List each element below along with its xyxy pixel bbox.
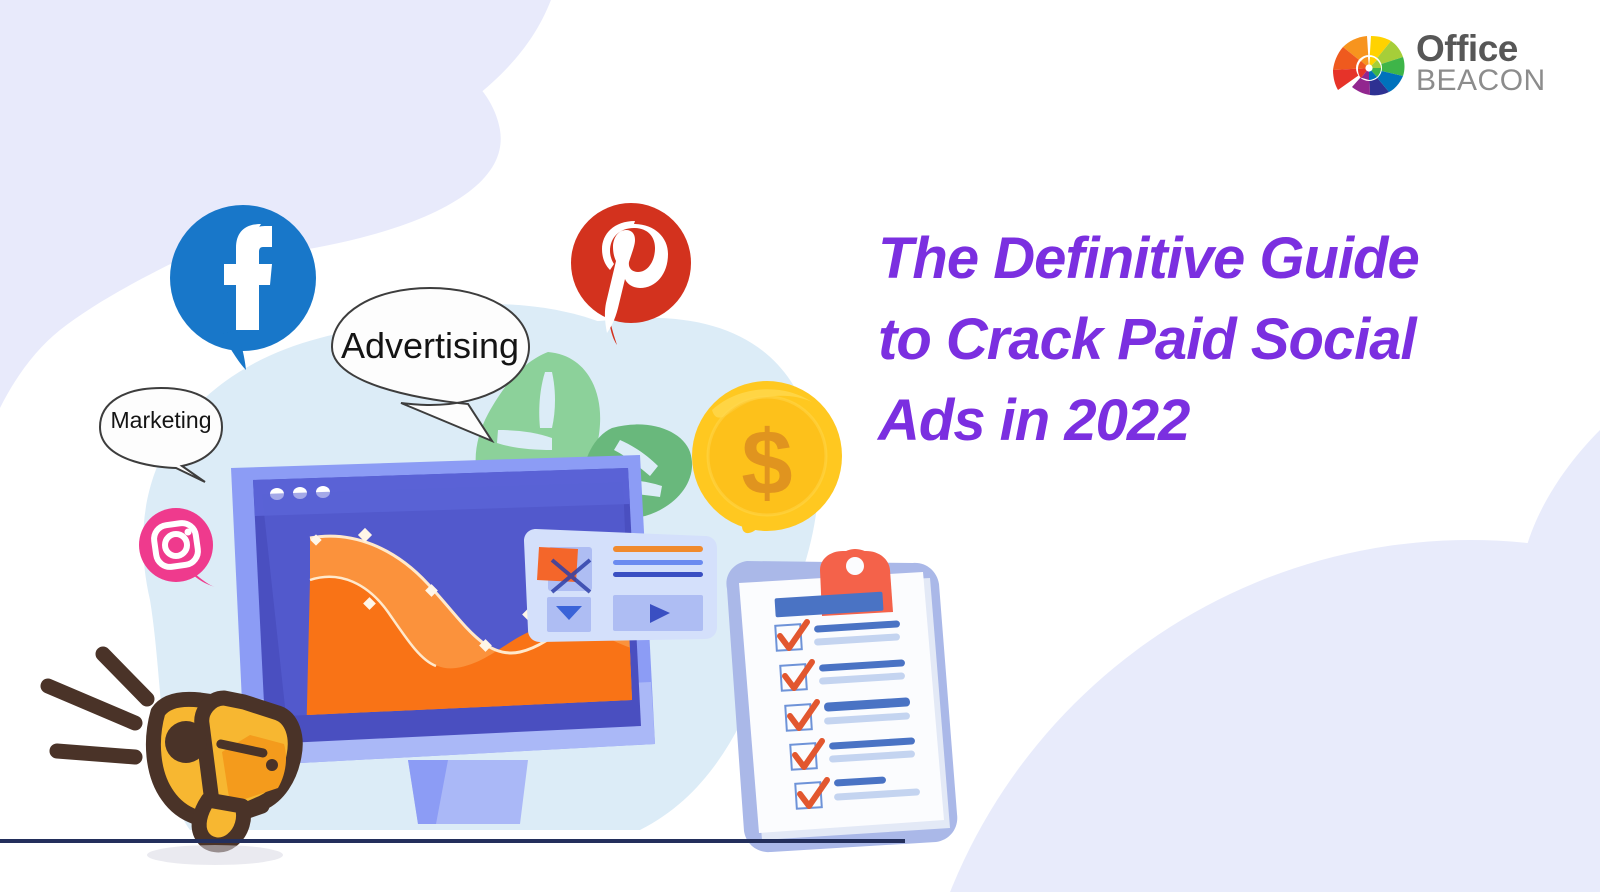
title-line-3: Ads in 2022 bbox=[878, 380, 1518, 461]
ad-card-line-3 bbox=[613, 572, 703, 577]
brand-wordmark: Office BEACON bbox=[1416, 27, 1546, 97]
ad-card-line-1 bbox=[613, 546, 703, 552]
dollar-coin-icon[interactable]: $ bbox=[692, 381, 842, 533]
facebook-icon[interactable] bbox=[170, 205, 316, 370]
megaphone-sound-waves bbox=[48, 654, 147, 757]
checklist-clipboard bbox=[726, 549, 957, 852]
megaphone-knob bbox=[165, 721, 207, 763]
brand-name-beacon: BEACON bbox=[1416, 66, 1546, 97]
ad-preview-card bbox=[524, 529, 717, 642]
title-line-1: The Definitive Guide bbox=[878, 218, 1518, 299]
instagram-icon[interactable] bbox=[139, 508, 215, 587]
ad-card-line-2 bbox=[613, 560, 703, 565]
cover-illustration-canvas: $ bbox=[0, 0, 1600, 892]
brand-name-office: Office bbox=[1416, 31, 1546, 67]
pinterest-icon[interactable] bbox=[571, 203, 691, 345]
marketing-bubble-label: Marketing bbox=[105, 407, 217, 434]
page-title: The Definitive Guide to Crack Paid Socia… bbox=[878, 218, 1518, 461]
megaphone-handle bbox=[199, 800, 243, 845]
office-beacon-logo: Office BEACON bbox=[1330, 26, 1535, 98]
svg-text:$: $ bbox=[741, 412, 792, 514]
advertising-bubble-label: Advertising bbox=[335, 325, 525, 367]
megaphone-shadow bbox=[147, 845, 283, 865]
pinwheel-fan-icon bbox=[1330, 28, 1408, 96]
title-line-2: to Crack Paid Social bbox=[878, 299, 1518, 380]
clipboard-clip-hole bbox=[846, 557, 864, 575]
marketing-bubble bbox=[100, 388, 222, 482]
megaphone-grip-dot bbox=[266, 759, 278, 771]
